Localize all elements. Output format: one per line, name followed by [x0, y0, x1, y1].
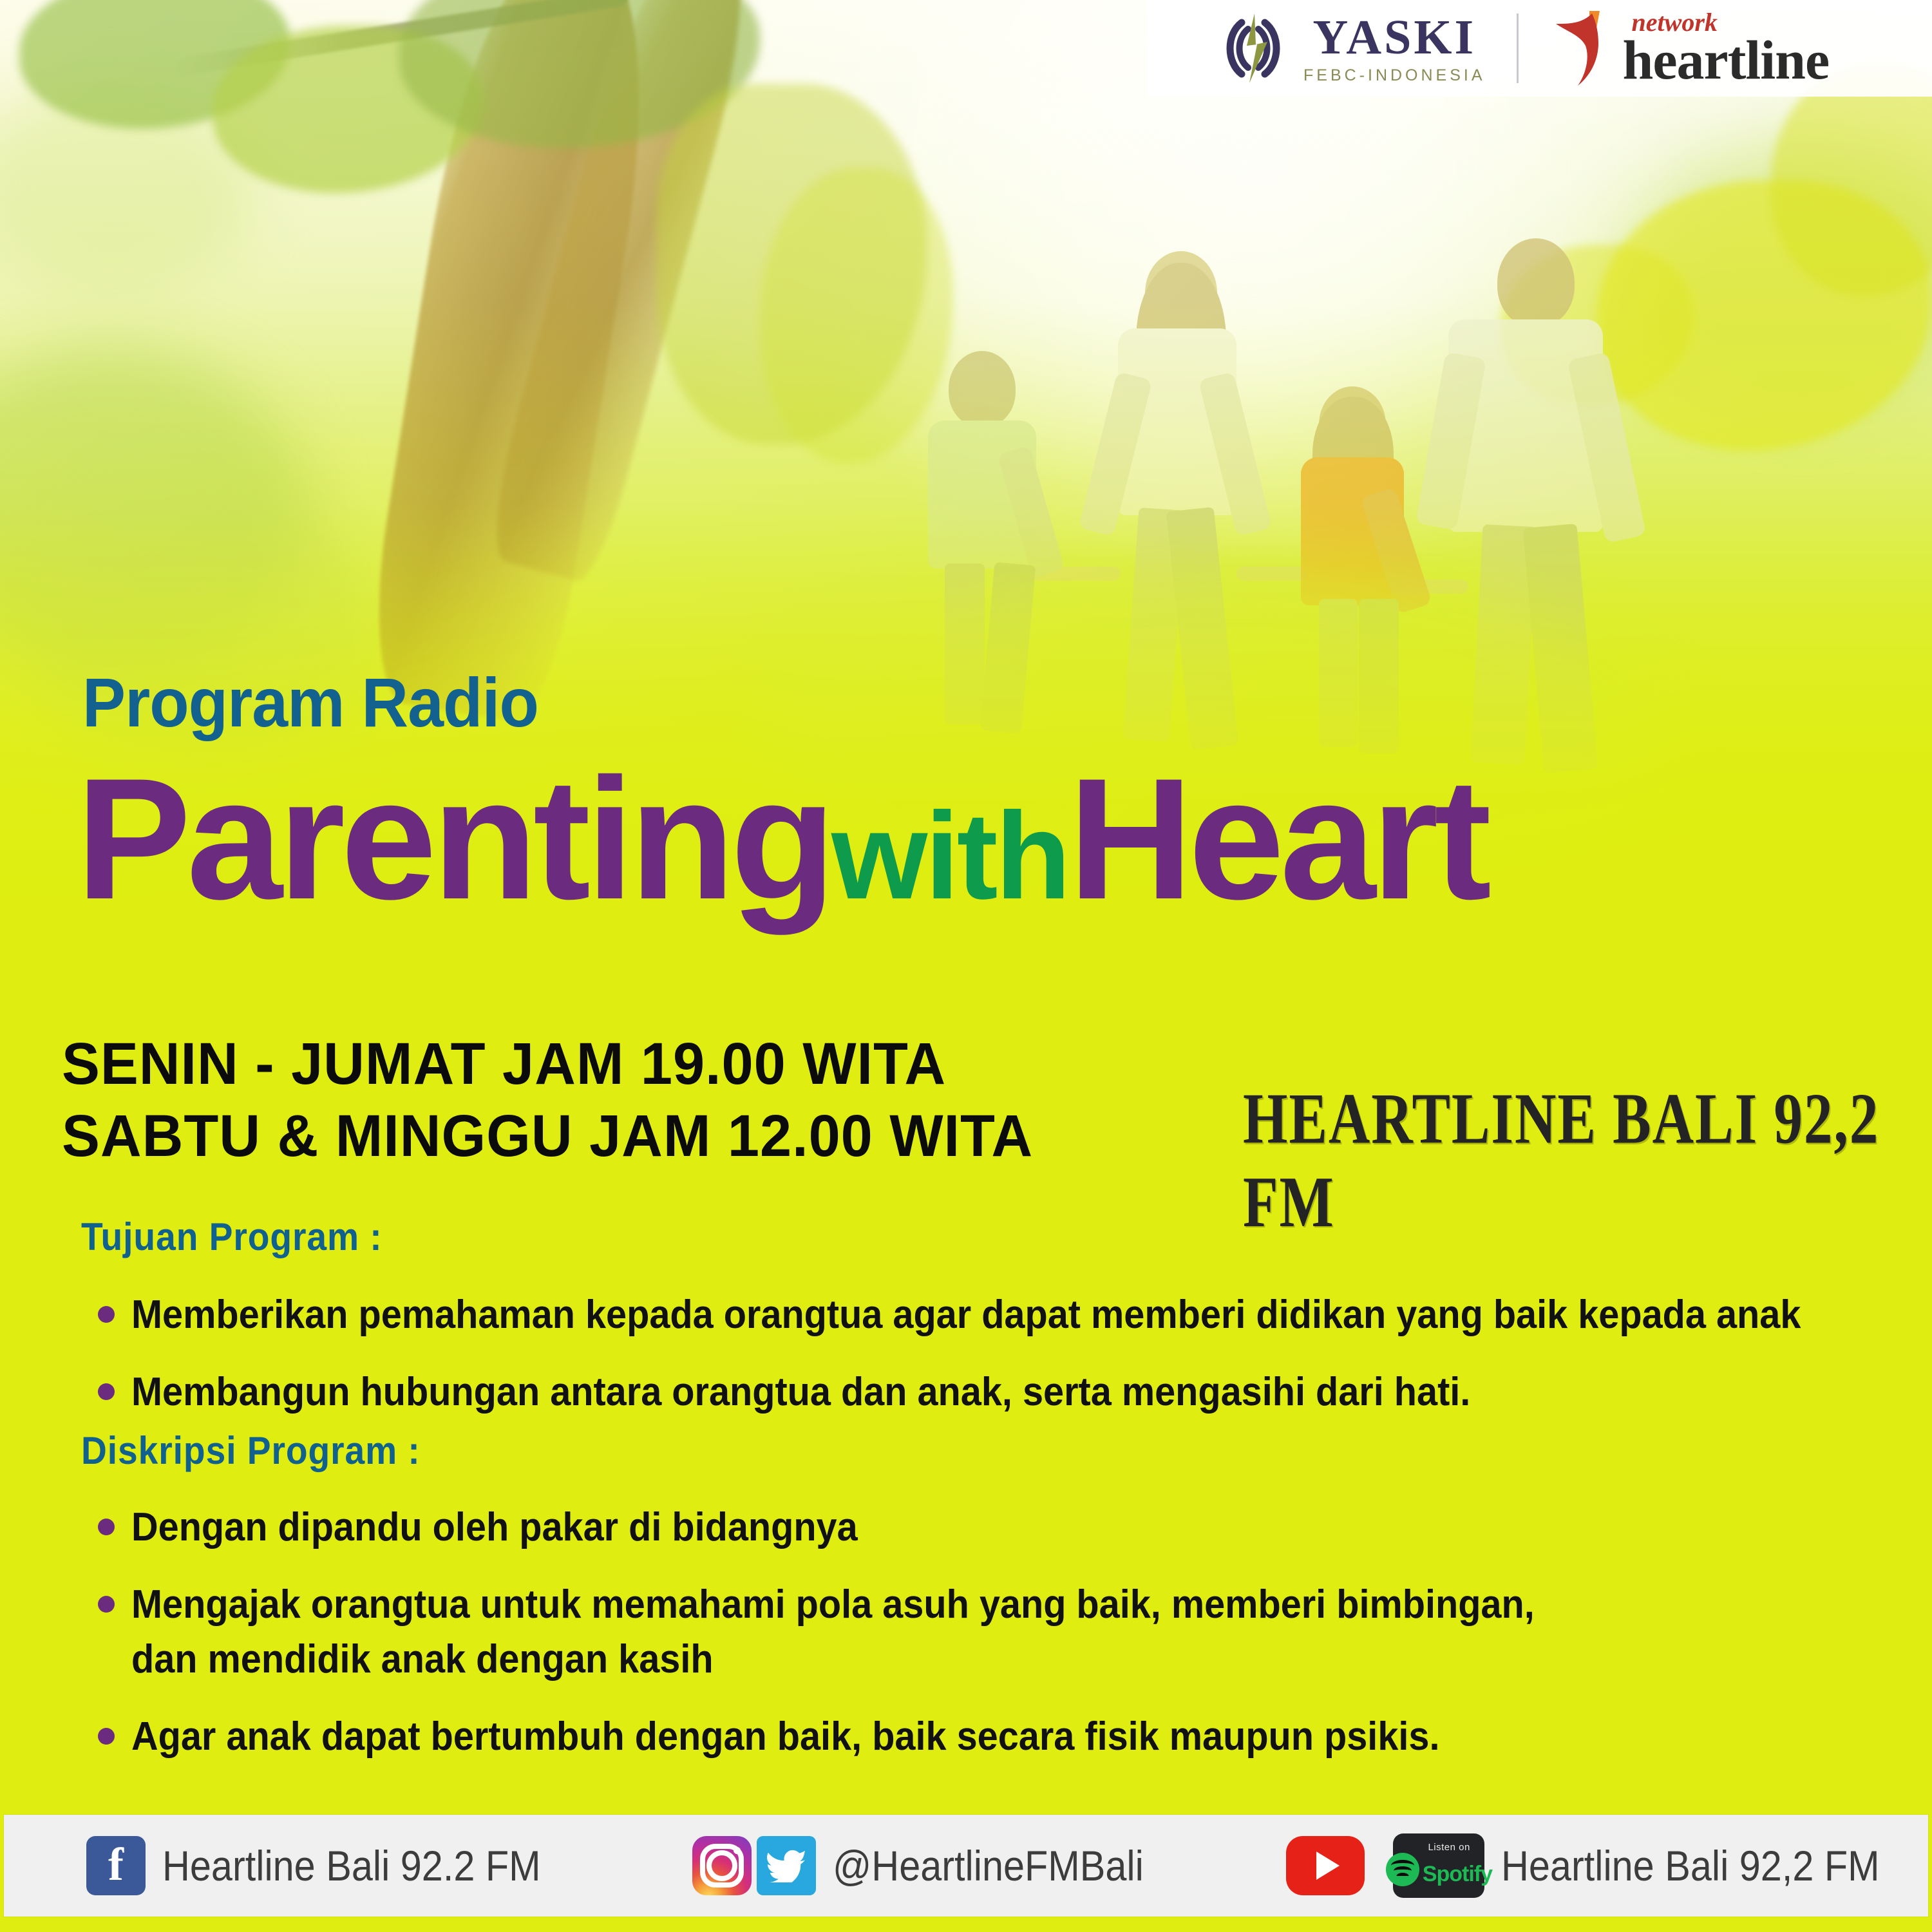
facebook-icon[interactable]: f [86, 1836, 146, 1895]
logo-divider [1517, 14, 1519, 83]
bullet-icon [98, 1519, 115, 1535]
list-item-text: Memberikan pemahaman kepada orangtua aga… [131, 1288, 1801, 1342]
facebook-handle: Heartline Bali 92.2 FM [162, 1841, 541, 1890]
spotify-entry[interactable]: Listen on Spotify Heartline Bali 92,2 FM [1393, 1833, 1922, 1898]
list-item-text: Membangun hubungan antara orangtua dan a… [131, 1365, 1470, 1419]
instagram-twitter-entry[interactable]: @HeartlineFMBali [692, 1836, 1178, 1895]
tujuan-bullet-list: Memberikan pemahaman kepada orangtua aga… [98, 1288, 1927, 1443]
yaski-wordmark: YASKI FEBC-INDONESIA [1303, 13, 1486, 84]
twitter-icon[interactable] [757, 1836, 816, 1895]
bullet-icon [98, 1728, 115, 1745]
title-parenting: Parenting [76, 742, 831, 935]
spotify-icon[interactable]: Listen on Spotify [1393, 1833, 1484, 1898]
bullet-icon [98, 1306, 115, 1323]
heartline-figure-logo-icon [1549, 10, 1619, 87]
yaski-logo: YASKI FEBC-INDONESIA [1146, 12, 1486, 84]
poster-canvas: YASKI FEBC-INDONESIA network heartline P… [0, 0, 1932, 1932]
schedule-line-weekend: SABTU & MINGGU JAM 12.00 WITA [62, 1100, 1033, 1172]
brand-logo-bar: YASKI FEBC-INDONESIA network heartline [1146, 0, 1932, 97]
list-item-text: Mengajak orangtua untuk memahami pola as… [131, 1578, 1535, 1687]
social-footer-bar: f Heartline Bali 92.2 FM @HeartlineFMBal… [4, 1815, 1928, 1917]
diskripsi-bullet-list: Dengan dipandu oleh pakar di bidangnya M… [98, 1501, 1640, 1787]
page-title: ParentingwithHeart [76, 752, 1487, 925]
facebook-entry[interactable]: f Heartline Bali 92.2 FM [86, 1836, 583, 1895]
list-item: Mengajak orangtua untuk memahami pola as… [98, 1578, 1640, 1687]
list-item: Memberikan pemahaman kepada orangtua aga… [98, 1288, 1927, 1342]
heartline-name: heartline [1623, 35, 1830, 86]
instagram-icon[interactable] [692, 1836, 752, 1895]
list-item: Dengan dipandu oleh pakar di bidangnya [98, 1501, 1640, 1555]
spotify-wordmark: Spotify [1423, 1862, 1492, 1887]
yaski-subtitle: FEBC-INDONESIA [1303, 68, 1486, 84]
youtube-entry[interactable] [1286, 1836, 1365, 1895]
broadcast-schedule: SENIN - JUMAT JAM 19.00 WITA SABTU & MIN… [62, 1028, 1033, 1172]
twitter-handle: @HeartlineFMBali [833, 1841, 1144, 1890]
spotify-handle: Heartline Bali 92,2 FM [1501, 1841, 1880, 1890]
title-heart: Heart [1068, 742, 1487, 935]
spotify-listen-on-label: Listen on [1428, 1842, 1470, 1853]
list-item: Membangun hubungan antara orangtua dan a… [98, 1365, 1927, 1419]
section-heading-diskripsi: Diskripsi Program : [81, 1428, 421, 1473]
station-name: HEARTLINE BALI 92,2 FM [1243, 1077, 1911, 1244]
section-heading-tujuan: Tujuan Program : [81, 1215, 383, 1259]
schedule-line-weekday: SENIN - JUMAT JAM 19.00 WITA [62, 1028, 1033, 1100]
yaski-name: YASKI [1312, 13, 1476, 62]
bullet-icon [98, 1596, 115, 1613]
youtube-icon[interactable] [1286, 1836, 1365, 1895]
list-item: Agar anak dapat bertumbuh dengan baik, b… [98, 1710, 1640, 1764]
list-item-text: Agar anak dapat bertumbuh dengan baik, b… [131, 1710, 1440, 1764]
heartline-logo: network heartline [1549, 10, 1830, 87]
title-with: with [831, 786, 1068, 925]
spotify-glyph [1386, 1853, 1419, 1886]
program-kicker: Program Radio [82, 662, 538, 743]
list-item-text: Dengan dipandu oleh pakar di bidangnya [131, 1501, 858, 1555]
radio-wave-cross-logo-icon [1217, 12, 1289, 84]
bullet-icon [98, 1383, 115, 1400]
heartline-wordmark: network heartline [1623, 11, 1830, 86]
